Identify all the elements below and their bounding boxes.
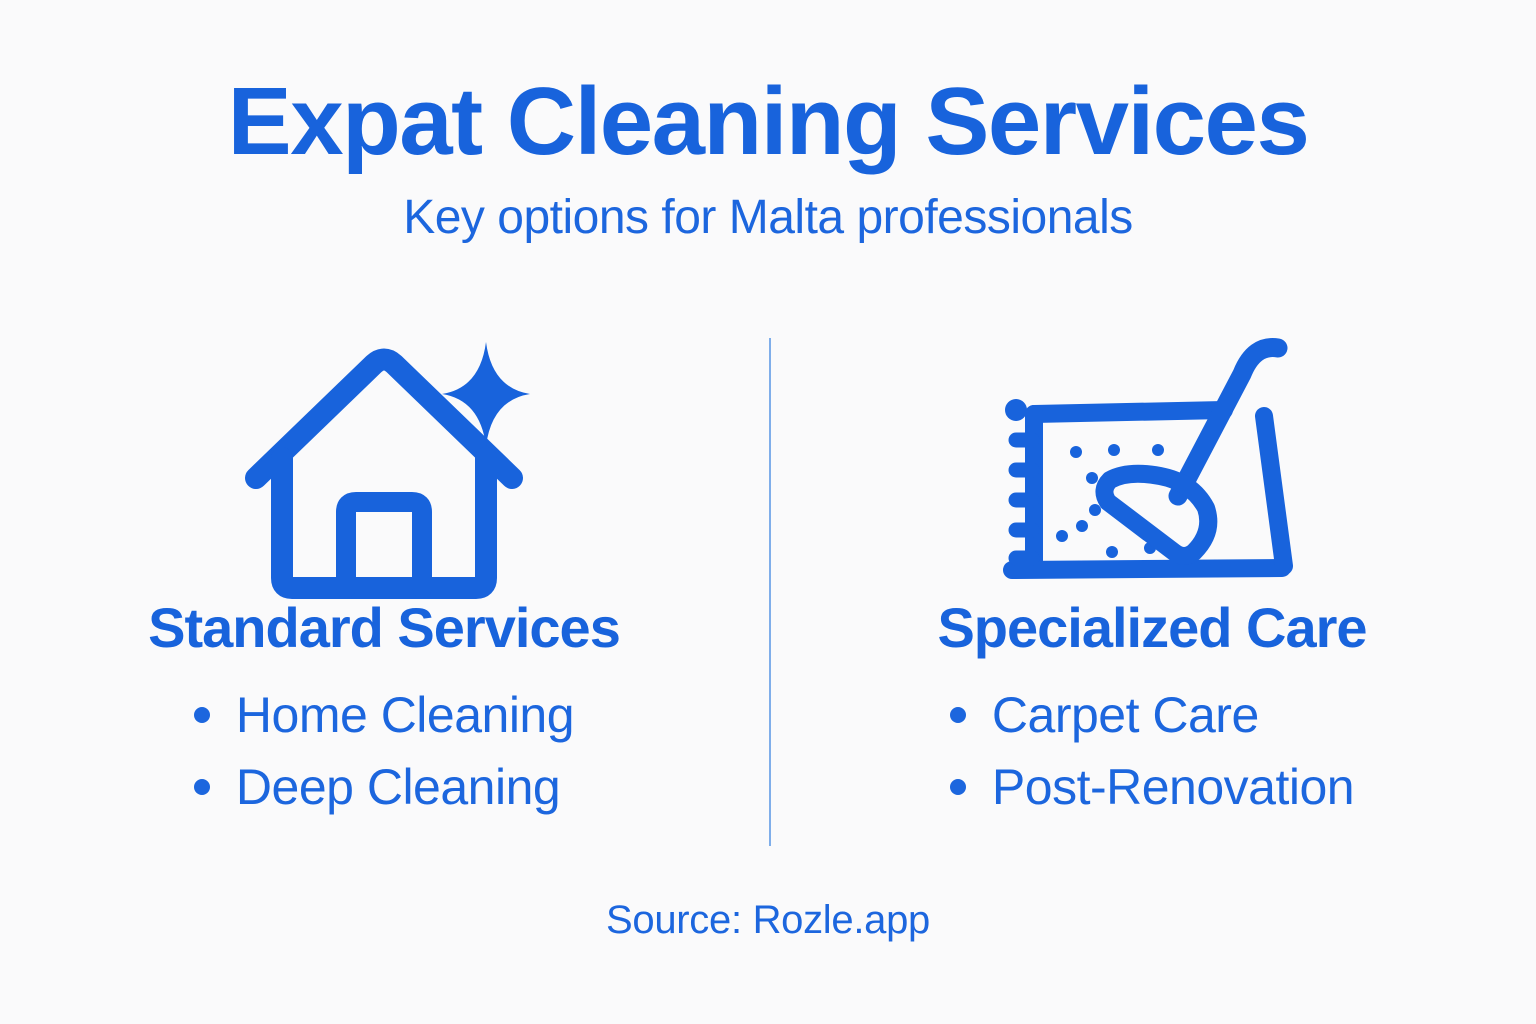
bullet-dot-icon <box>194 779 210 795</box>
column-heading-standard: Standard Services <box>148 600 620 656</box>
bullet-dot-icon <box>194 707 210 723</box>
list-item-label: Carpet Care <box>992 690 1259 740</box>
list-item: Home Cleaning <box>194 690 574 740</box>
carpet-mop-icon <box>992 330 1312 600</box>
column-heading-specialized: Specialized Care <box>937 600 1366 656</box>
list-item-label: Home Cleaning <box>236 690 574 740</box>
column-specialized-care: Specialized Care Carpet Care Post-Renova… <box>768 330 1536 860</box>
list-item: Post-Renovation <box>950 762 1354 812</box>
bullet-list-standard: Home Cleaning Deep Cleaning <box>194 690 574 834</box>
list-item: Carpet Care <box>950 690 1354 740</box>
page-subtitle: Key options for Malta professionals <box>0 194 1536 242</box>
list-item: Deep Cleaning <box>194 762 574 812</box>
house-sparkle-icon <box>234 330 534 600</box>
bullet-dot-icon <box>950 707 966 723</box>
bullet-list-specialized: Carpet Care Post-Renovation <box>950 690 1354 834</box>
infographic-canvas: Expat Cleaning Services Key options for … <box>0 0 1536 1024</box>
source-attribution: Source: Rozle.app <box>0 898 1536 943</box>
bullet-dot-icon <box>950 779 966 795</box>
list-item-label: Deep Cleaning <box>236 762 560 812</box>
header: Expat Cleaning Services Key options for … <box>0 74 1536 242</box>
column-divider <box>769 338 771 846</box>
column-standard-services: Standard Services Home Cleaning Deep Cle… <box>0 330 768 860</box>
list-item-label: Post-Renovation <box>992 762 1354 812</box>
page-title: Expat Cleaning Services <box>0 74 1536 170</box>
columns-container: Standard Services Home Cleaning Deep Cle… <box>0 330 1536 860</box>
